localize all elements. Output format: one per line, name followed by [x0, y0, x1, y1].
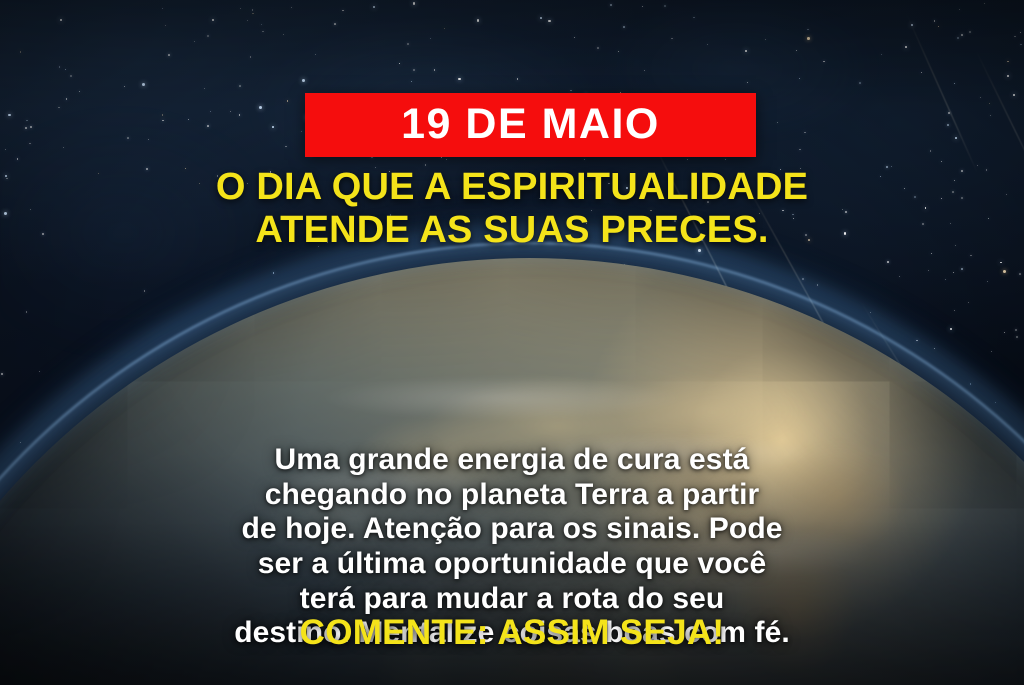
- body-line-5: terá para mudar a rota do seu: [42, 582, 982, 617]
- poster-content: 19 DE MAIO O DIA QUE A ESPIRITUALIDADE A…: [0, 0, 1024, 685]
- body-line-1: Uma grande energia de cura está: [42, 443, 982, 478]
- body-line-3: de hoje. Atenção para os sinais. Pode: [42, 512, 982, 547]
- headline-line-2: ATENDE AS SUAS PRECES.: [28, 209, 996, 252]
- call-to-action: COMENTE: ASSIM SEJA!: [0, 615, 1024, 650]
- poster-canvas: 19 DE MAIO O DIA QUE A ESPIRITUALIDADE A…: [0, 0, 1024, 685]
- headline-line-1: O DIA QUE A ESPIRITUALIDADE: [216, 166, 808, 208]
- body-line-2: chegando no planeta Terra a partir: [42, 478, 982, 513]
- date-banner-text: 19 DE MAIO: [401, 103, 660, 146]
- cta-text: COMENTE: ASSIM SEJA!: [300, 613, 725, 652]
- date-banner: 19 DE MAIO: [305, 93, 756, 157]
- headline: O DIA QUE A ESPIRITUALIDADE ATENDE AS SU…: [0, 166, 1024, 252]
- body-line-4: ser a última oportunidade que você: [42, 547, 982, 582]
